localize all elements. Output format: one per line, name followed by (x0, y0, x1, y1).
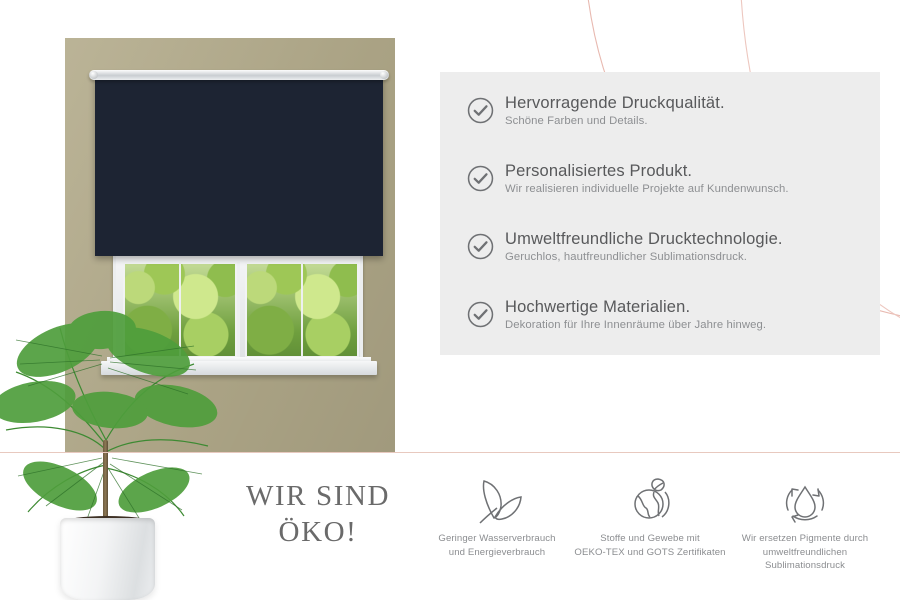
eco-caption: Geringer Wasserverbrauch und Energieverb… (412, 532, 582, 559)
check-circle-icon (466, 300, 495, 329)
features-panel: Hervorragende Druckqualität. Schöne Farb… (440, 72, 880, 355)
roller-blind-tube (89, 70, 389, 80)
feature-title: Umweltfreundliche Drucktechnologie. (505, 230, 783, 248)
eco-caption-line: Stoffe und Gewebe mit (565, 532, 735, 546)
leaves-icon (412, 472, 582, 528)
eco-caption-line: und Energieverbrauch (412, 546, 582, 560)
promo-banner: Hervorragende Druckqualität. Schöne Farb… (0, 0, 900, 600)
eco-column: Wir ersetzen Pigmente durch umweltfreund… (720, 472, 890, 573)
eco-caption: Wir ersetzen Pigmente durch umweltfreund… (720, 532, 890, 573)
eco-caption-line: Wir ersetzen Pigmente durch (720, 532, 890, 546)
eco-caption-line: Sublimationsdruck (720, 559, 890, 573)
feature-subtitle: Geruchlos, hautfreundlicher Sublimations… (505, 250, 783, 264)
feature-title: Personalisiertes Produkt. (505, 162, 789, 180)
globe-leaf-icon (565, 472, 735, 528)
eco-heading-line2: ÖKO! (218, 514, 418, 550)
plant-pot (60, 518, 155, 600)
feature-item: Hervorragende Druckqualität. Schöne Farb… (466, 94, 725, 129)
eco-caption-line: OEKO-TEX und GOTS Zertifikaten (565, 546, 735, 560)
feature-title: Hochwertige Materialien. (505, 298, 766, 316)
eco-column: Stoffe und Gewebe mit OEKO-TEX und GOTS … (565, 472, 735, 559)
feature-item: Umweltfreundliche Drucktechnologie. Geru… (466, 230, 783, 265)
eco-column: Geringer Wasserverbrauch und Energieverb… (412, 472, 582, 559)
potted-bamboo-palm (0, 290, 223, 600)
roller-blind (95, 70, 383, 260)
window-mullion (301, 262, 303, 358)
section-divider (0, 452, 900, 453)
eco-heading-line1: WIR SIND (218, 478, 418, 514)
check-circle-icon (466, 232, 495, 261)
feature-subtitle: Wir realisieren individuelle Projekte au… (505, 182, 789, 196)
eco-caption-line: Geringer Wasserverbrauch (412, 532, 582, 546)
feature-item: Hochwertige Materialien. Dekoration für … (466, 298, 766, 333)
check-circle-icon (466, 96, 495, 125)
feature-item: Personalisiertes Produkt. Wir realisiere… (466, 162, 789, 197)
palm-foliage (0, 290, 223, 540)
roller-blind-fabric (95, 78, 383, 256)
window-mullion (237, 262, 240, 358)
check-circle-icon (466, 164, 495, 193)
water-drop-recycle-icon (720, 472, 890, 528)
eco-heading: WIR SIND ÖKO! (218, 478, 418, 551)
feature-subtitle: Schöne Farben und Details. (505, 114, 725, 128)
tropical-leaves-pattern (95, 78, 383, 256)
eco-caption: Stoffe und Gewebe mit OEKO-TEX und GOTS … (565, 532, 735, 559)
feature-title: Hervorragende Druckqualität. (505, 94, 725, 112)
feature-subtitle: Dekoration für Ihre Innenräume über Jahr… (505, 318, 766, 332)
eco-caption-line: umweltfreundlichen (720, 546, 890, 560)
